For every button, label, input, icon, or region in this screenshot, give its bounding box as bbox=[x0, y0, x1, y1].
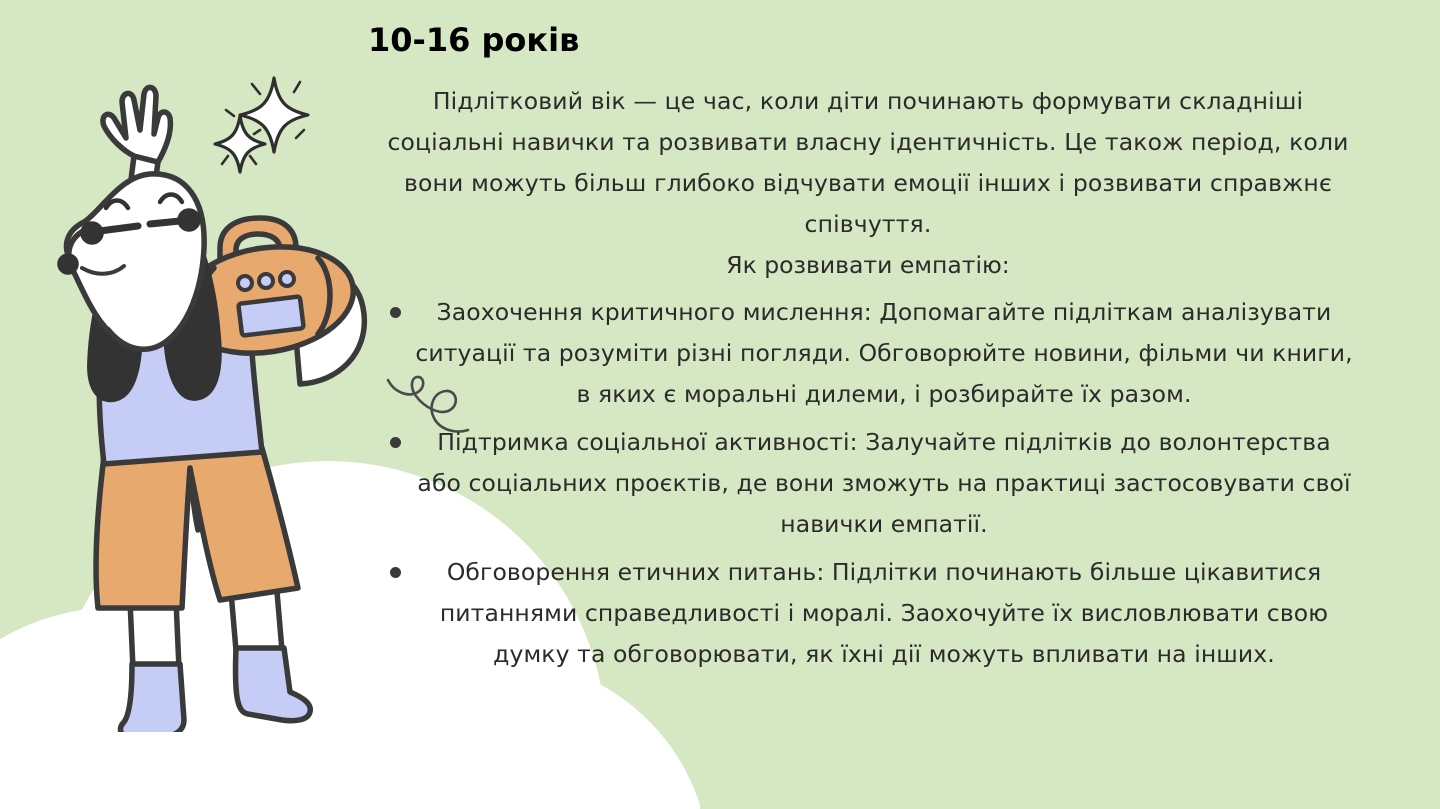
list-item: Заохочення критичного мислення: Допомага… bbox=[368, 292, 1368, 415]
content-column: 10-16 років Підлітковий вік — це час, ко… bbox=[368, 0, 1368, 809]
bullet-marker-icon bbox=[390, 307, 401, 318]
floppy-black-ears bbox=[90, 212, 219, 399]
intro-paragraph: Підлітковий вік — це час, коли діти почи… bbox=[368, 81, 1368, 245]
page-title: 10-16 років bbox=[368, 21, 1368, 59]
dog-character-illustration bbox=[8, 52, 388, 732]
bullet-marker-icon bbox=[390, 437, 401, 448]
bullet-list: Заохочення критичного мислення: Допомага… bbox=[368, 292, 1368, 675]
list-item-text: Підтримка соціальної активності: Залучай… bbox=[417, 428, 1350, 538]
sparkles-icon bbox=[208, 68, 323, 183]
holding-arm bbox=[284, 273, 364, 384]
boombox-radio bbox=[171, 218, 361, 365]
dog-head bbox=[60, 174, 204, 349]
slide-canvas: 10-16 років Підлітковий вік — це час, ко… bbox=[0, 0, 1440, 809]
list-item-text: Обговорення етичних питань: Підлітки поч… bbox=[440, 558, 1328, 668]
raised-paw-arm bbox=[103, 87, 170, 382]
closed-eyes bbox=[106, 195, 182, 209]
empathy-subtitle: Як розвивати емпатію: bbox=[368, 245, 1368, 286]
legs-and-feet bbox=[121, 580, 311, 732]
list-item-text: Заохочення критичного мислення: Допомага… bbox=[415, 298, 1352, 408]
list-item: Обговорення етичних питань: Підлітки поч… bbox=[368, 552, 1368, 675]
bullet-marker-icon bbox=[390, 567, 401, 578]
black-nose bbox=[60, 256, 76, 272]
list-item: Підтримка соціальної активності: Залучай… bbox=[368, 422, 1368, 545]
periwinkle-shirt bbox=[99, 284, 298, 464]
orange-wide-leg-pants bbox=[96, 448, 298, 608]
